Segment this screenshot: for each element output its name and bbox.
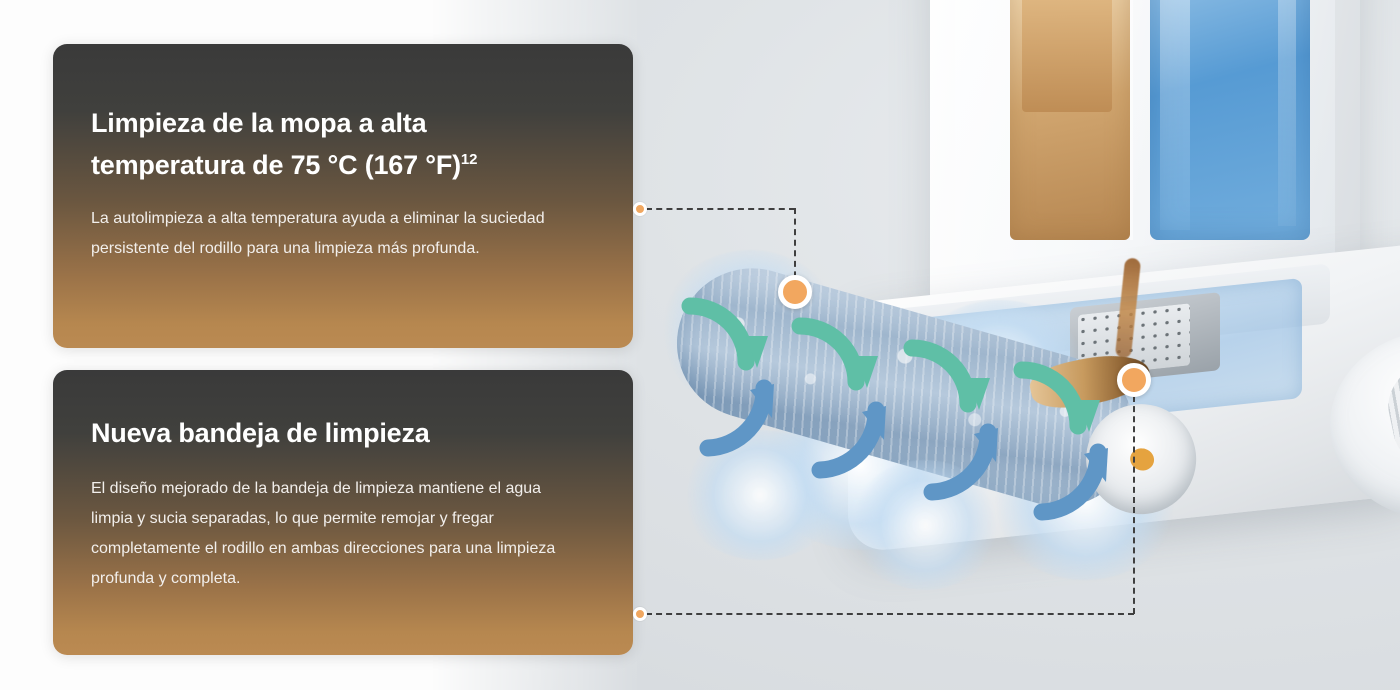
card-title-text: Nueva bandeja de limpieza <box>91 418 430 448</box>
callout-dot-small-bottom[interactable] <box>633 607 647 621</box>
feature-card-cleaning-tray: Nueva bandeja de limpieza El diseño mejo… <box>53 370 633 655</box>
card-title: Limpieza de la mopa a alta temperatura d… <box>91 102 581 186</box>
callout-dot-small-top[interactable] <box>633 202 647 216</box>
card-title-superscript: 12 <box>461 151 477 168</box>
scrub-direction-arrows <box>650 270 1210 530</box>
feature-section: Limpieza de la mopa a alta temperatura d… <box>0 0 1400 690</box>
feature-card-high-temperature: Limpieza de la mopa a alta temperatura d… <box>53 44 633 348</box>
tank-divider-edge <box>1130 0 1133 240</box>
callout-dot-large-bottom[interactable] <box>1117 363 1151 397</box>
connector-line-horizontal <box>646 208 795 210</box>
card-title-text: Limpieza de la mopa a alta temperatura d… <box>91 108 461 180</box>
connector-line-horizontal <box>646 613 1134 615</box>
dirty-water-tank <box>1010 0 1130 240</box>
card-title: Nueva bandeja de limpieza <box>91 412 581 454</box>
callout-dot-large-top[interactable] <box>778 275 812 309</box>
card-body-text: La autolimpieza a alta temperatura ayuda… <box>91 204 581 264</box>
card-body-text: El diseño mejorado de la bandeja de limp… <box>91 474 581 594</box>
connector-line-vertical <box>1133 396 1135 614</box>
clean-water-tank <box>1150 0 1310 240</box>
